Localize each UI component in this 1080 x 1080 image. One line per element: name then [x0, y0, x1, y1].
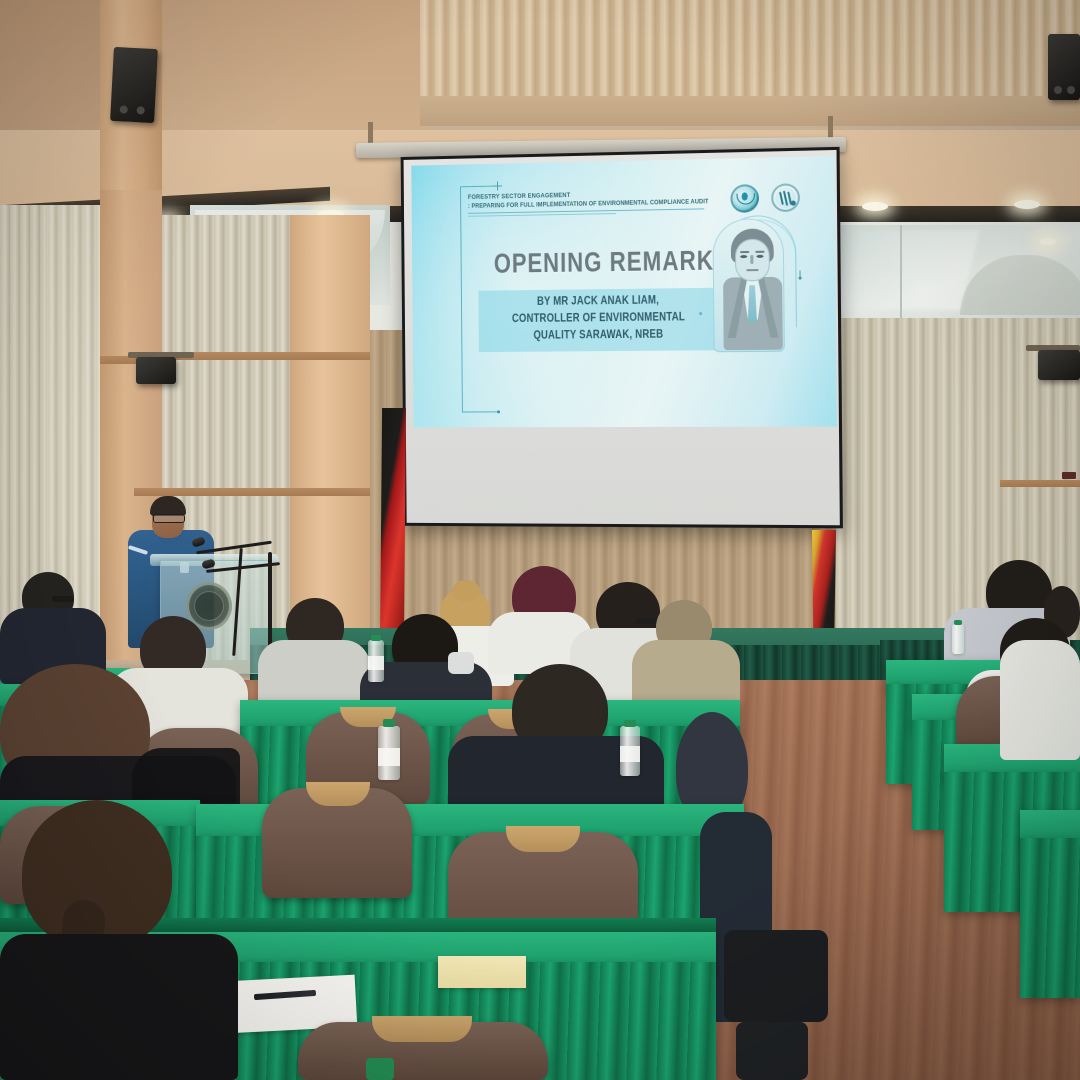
attendee-torso: [0, 934, 238, 1080]
column-trim-band: [134, 488, 370, 496]
water-bottle: [620, 726, 640, 776]
water-bottle: [368, 640, 384, 682]
slide-rule-bottom: [462, 411, 499, 412]
attendee-hair-bun: [452, 580, 480, 602]
wall-column-center: [290, 215, 370, 660]
attendee-face-mask: [448, 652, 474, 674]
screen-surface: FORESTRY SECTOR ENGAGEMENT : PREPARING F…: [404, 150, 840, 525]
attendee-torso: [1000, 640, 1080, 760]
slide-byline-line2: CONTROLLER OF ENVIRONMENTAL: [498, 309, 700, 328]
ceiling-downlight: [1014, 200, 1040, 209]
presentation-slide: FORESTRY SECTOR ENGAGEMENT : PREPARING F…: [411, 156, 837, 427]
slide-tick-mark: [497, 182, 498, 191]
table-drape: [1020, 838, 1080, 998]
glass-mullion: [900, 225, 902, 320]
shoe: [736, 1022, 808, 1080]
wall-speaker-icon: [1038, 350, 1080, 380]
wall-speaker-icon: [136, 357, 176, 384]
ceiling-wood-band: [420, 96, 1080, 126]
portrait-mouth: [746, 269, 758, 271]
ceiling-downlight: [1040, 238, 1056, 245]
wall-speaker-icon: [1048, 34, 1080, 100]
attendee-eyeglasses: [52, 596, 74, 602]
slide-footer: [470, 389, 621, 406]
water-bottle: [378, 726, 400, 780]
slide-title: OPENING REMARK: [494, 245, 701, 280]
portrait-nose: [750, 255, 753, 264]
wall-speaker-icon: [110, 47, 158, 123]
chair: [298, 1022, 548, 1080]
slide-tick-mark: [799, 270, 800, 279]
chair: [262, 788, 412, 898]
wall-trim-band-right: [1000, 480, 1080, 487]
note-card: [438, 956, 526, 988]
speaker-portrait-illustration: [708, 218, 793, 360]
portrait-frame: [712, 218, 784, 352]
slide-dot-mark: [497, 410, 500, 413]
presenter-eyeglasses: [153, 514, 185, 523]
agency-wave-logo-icon: [771, 183, 800, 212]
water-bottle-cap: [366, 1058, 394, 1080]
slide-byline: BY MR JACK ANAK LIAM, CONTROLLER OF ENVI…: [478, 292, 719, 345]
slide-byline-line3: QUALITY SARAWAK, NREB: [498, 326, 700, 345]
projector-screen: FORESTRY SECTOR ENGAGEMENT : PREPARING F…: [401, 147, 843, 528]
sarawak-flag-left: [380, 408, 406, 646]
slide-footer-line2: [470, 397, 621, 406]
podium-crest-inner: [194, 591, 224, 621]
slide-kicker: FORESTRY SECTOR ENGAGEMENT : PREPARING F…: [468, 188, 742, 216]
wall-marker: [1062, 472, 1076, 479]
attendee-torso: [258, 640, 370, 708]
conference-hall-photo: FORESTRY SECTOR ENGAGEMENT : PREPARING F…: [0, 0, 1080, 1080]
nreb-logo-icon: [730, 184, 759, 213]
ceiling-downlight: [862, 202, 888, 211]
bag: [724, 930, 828, 1022]
water-bottle: [952, 624, 964, 654]
